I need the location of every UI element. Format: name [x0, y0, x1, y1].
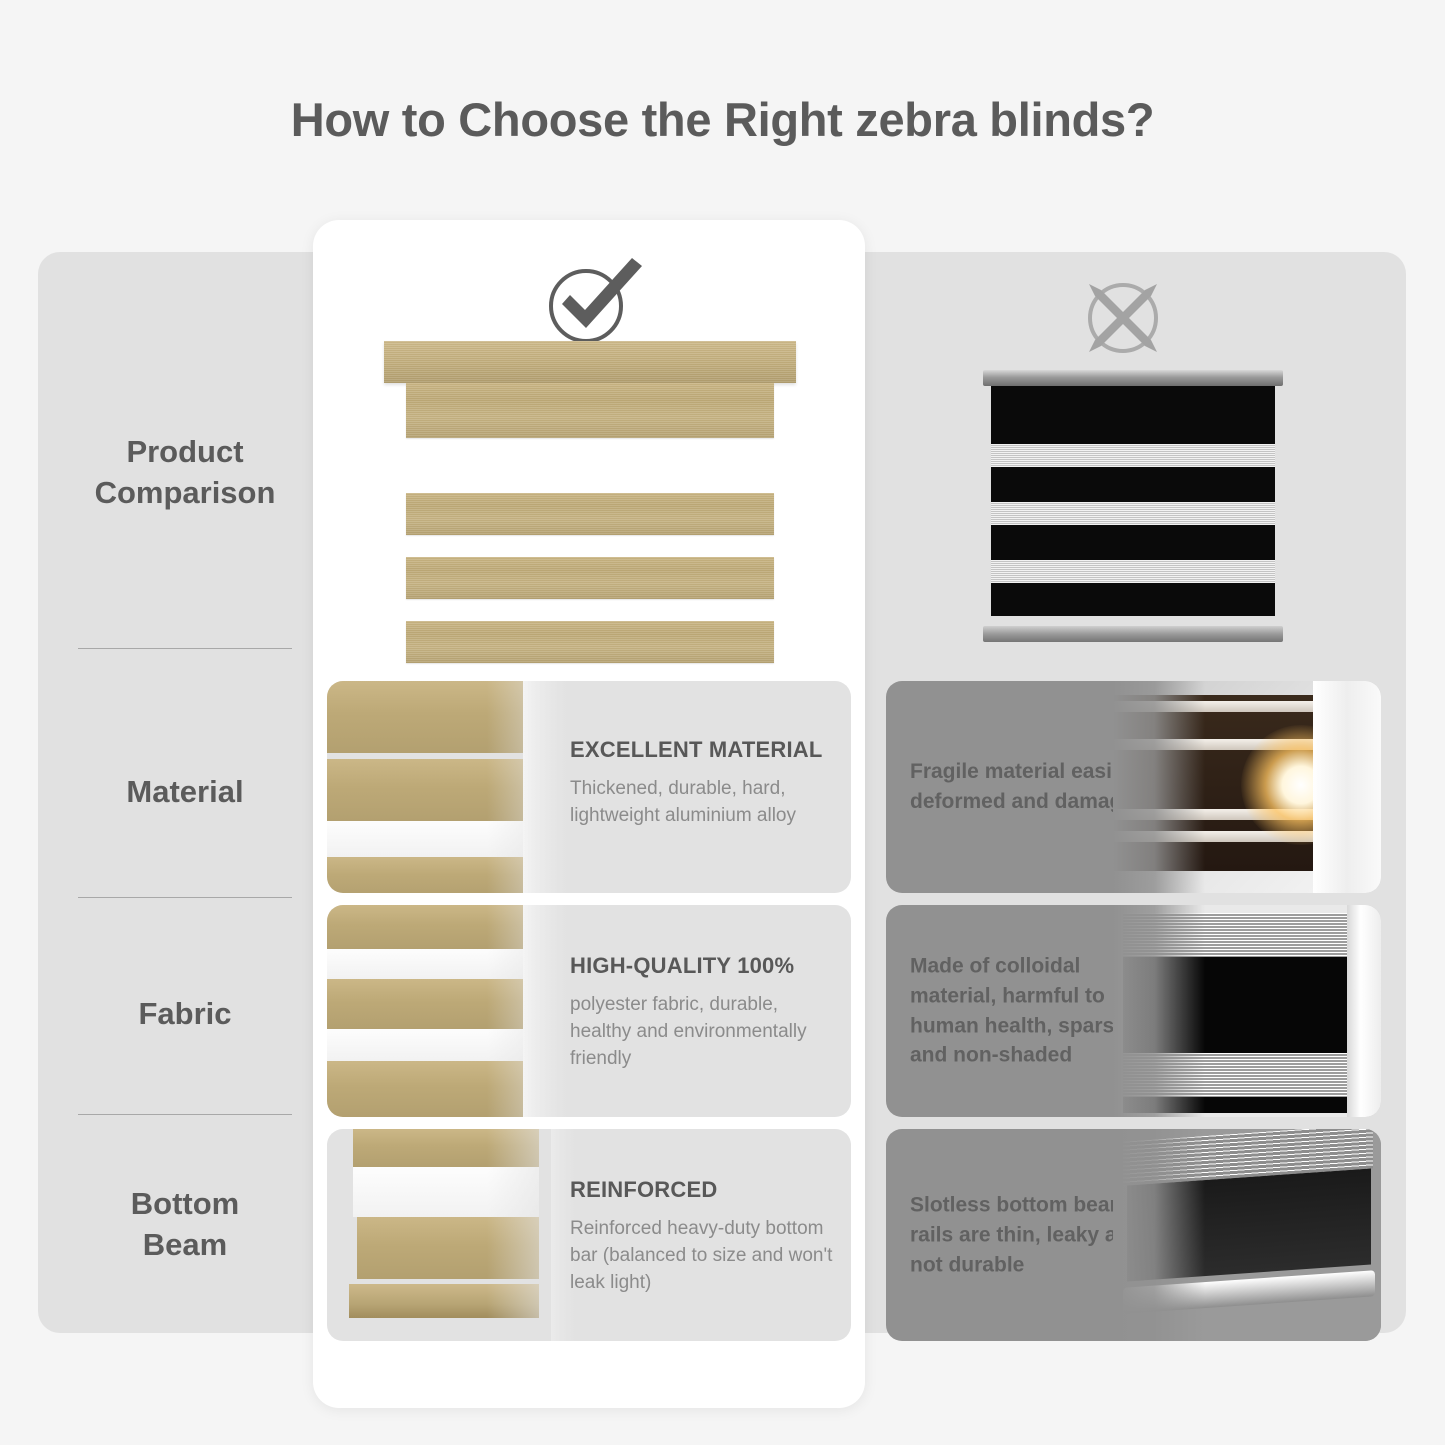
black-sheer-band-2: [991, 502, 1275, 525]
hero-tan-blind-image: [384, 341, 796, 664]
good-feature-title: HIGH-QUALITY 100%: [570, 953, 835, 979]
bad-feature-card-bottom-beam: Slotless bottom beam rails are thin, lea…: [886, 1129, 1381, 1341]
sidebar-item-bottom-beam: Bottom Beam: [60, 1184, 310, 1266]
good-feature-desc: Reinforced heavy-duty bottom bar (balanc…: [570, 1216, 835, 1297]
sidebar-label-bottom-beam: Bottom Beam: [131, 1186, 239, 1262]
tan-band-3: [406, 557, 774, 599]
good-bottom-beam-image: [327, 1129, 597, 1341]
sidebar-item-material: Material: [60, 772, 310, 813]
category-sidebar: Product Comparison Material Fabric Botto…: [60, 252, 310, 1333]
good-feature-card-fabric: HIGH-QUALITY 100% polyester fabric, dura…: [327, 905, 851, 1117]
sidebar-label-material: Material: [126, 774, 243, 809]
sidebar-divider-1: [78, 648, 292, 649]
good-feature-card-material: EXCELLENT MATERIAL Thickened, durable, h…: [327, 681, 851, 893]
sidebar-item-product-comparison: Product Comparison: [60, 432, 310, 514]
good-material-image: [327, 681, 597, 893]
hero-black-blind-image: [983, 370, 1283, 642]
good-feature-title: REINFORCED: [570, 1177, 835, 1203]
tan-band-4: [406, 621, 774, 663]
page-title: How to Choose the Right zebra blinds?: [0, 92, 1445, 147]
tan-band-2: [406, 493, 774, 535]
sidebar-item-fabric: Fabric: [60, 994, 310, 1035]
check-circle-icon: [534, 254, 654, 350]
good-feature-card-bottom-beam: REINFORCED Reinforced heavy-duty bottom …: [327, 1129, 851, 1341]
black-blind-body: [991, 386, 1275, 616]
sidebar-divider-2: [78, 897, 292, 898]
bad-bottom-beam-image: [1113, 1129, 1381, 1341]
good-fabric-image: [327, 905, 597, 1117]
black-bottom-rail: [983, 626, 1283, 642]
x-circle-icon: [1077, 272, 1169, 364]
good-feature-desc: polyester fabric, durable, healthy and e…: [570, 992, 835, 1073]
bad-feature-card-fabric: Made of colloidal material, harmful to h…: [886, 905, 1381, 1117]
tan-band-1: [406, 383, 774, 438]
sidebar-divider-3: [78, 1114, 292, 1115]
good-feature-desc: Thickened, durable, hard, lightweight al…: [570, 776, 835, 830]
sidebar-label-fabric: Fabric: [138, 996, 231, 1031]
sidebar-label-product-comparison: Product Comparison: [95, 434, 276, 510]
bad-feature-card-material: Fragile material easily deformed and dam…: [886, 681, 1381, 893]
black-sheer-band-3: [991, 560, 1275, 583]
infographic-page: How to Choose the Right zebra blinds? Pr…: [0, 0, 1445, 1445]
bad-fabric-image: [1113, 905, 1381, 1117]
bad-material-image: [1113, 681, 1381, 893]
tan-headrail: [384, 341, 796, 383]
black-headrail: [983, 370, 1283, 386]
black-sheer-band-1: [991, 444, 1275, 467]
good-feature-title: EXCELLENT MATERIAL: [570, 737, 835, 763]
